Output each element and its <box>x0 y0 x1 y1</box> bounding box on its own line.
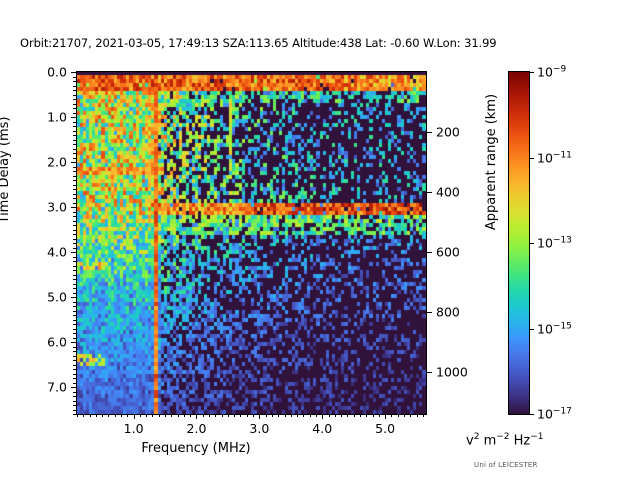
colorbar-tick-label: 10−11 <box>537 150 572 165</box>
colorbar-tick-label: 10−9 <box>537 64 566 79</box>
y-tick <box>73 167 76 168</box>
x-tick <box>159 414 160 417</box>
x-tick <box>240 414 241 417</box>
y-tick <box>73 275 76 276</box>
x-tick <box>134 414 135 419</box>
y-tick <box>73 248 76 249</box>
y-tick-label: 6.0 <box>47 335 67 350</box>
colorbar-tick-label: 10−15 <box>537 321 572 336</box>
y-tick <box>73 86 76 87</box>
x-tick <box>127 414 128 417</box>
y-tick <box>73 126 76 127</box>
y-tick <box>73 356 76 357</box>
x-tick <box>222 414 223 417</box>
x-tick <box>341 414 342 417</box>
x-tick <box>215 414 216 417</box>
x-tick <box>385 414 386 419</box>
x-tick <box>165 414 166 417</box>
y-tick <box>73 288 76 289</box>
y-tick <box>73 203 76 204</box>
y-tick <box>73 234 76 235</box>
y-tick <box>73 113 76 114</box>
x-tick <box>297 414 298 417</box>
y-tick <box>73 212 76 213</box>
y-tick <box>71 117 76 118</box>
y-tick-label: 5.0 <box>47 290 67 305</box>
y-tick <box>73 90 76 91</box>
y-tick <box>73 180 76 181</box>
watermark-text: Uni of LEICESTER <box>474 461 538 469</box>
y-tick <box>73 392 76 393</box>
ionogram-heatmap <box>77 72 426 414</box>
y-tick <box>73 194 76 195</box>
y-tick <box>73 410 76 411</box>
y-tick <box>71 387 76 388</box>
plot-title: Orbit:21707, 2021-03-05, 17:49:13 SZA:11… <box>20 36 497 50</box>
x-tick <box>115 414 116 417</box>
x-tick <box>184 414 185 417</box>
x-tick <box>108 414 109 417</box>
y-tick <box>71 207 76 208</box>
y-tick-label: 0.0 <box>47 65 67 80</box>
x-tick-label: 1.0 <box>124 421 144 436</box>
y-tick <box>73 239 76 240</box>
colorbar-tick <box>530 414 534 415</box>
y-tick <box>73 230 76 231</box>
x-tick-label: 3.0 <box>249 421 269 436</box>
y-tick <box>71 72 76 73</box>
y-tick <box>73 279 76 280</box>
y-tick <box>73 414 76 415</box>
y-tick <box>73 144 76 145</box>
y-tick <box>73 216 76 217</box>
x-tick <box>335 414 336 417</box>
y-tick <box>73 81 76 82</box>
y-tick <box>73 378 76 379</box>
x-tick <box>203 414 204 417</box>
x-tick <box>291 414 292 417</box>
y-tick <box>73 189 76 190</box>
y-tick <box>73 351 76 352</box>
y-tick <box>73 284 76 285</box>
right-tick-label: 1000 <box>436 365 468 380</box>
y-tick <box>73 135 76 136</box>
x-tick <box>379 414 380 417</box>
y-tick <box>73 324 76 325</box>
right-tick <box>427 372 432 373</box>
y-tick <box>73 131 76 132</box>
y-tick <box>73 158 76 159</box>
x-tick <box>398 414 399 417</box>
y-tick <box>73 383 76 384</box>
x-tick <box>140 414 141 417</box>
x-tick <box>360 414 361 417</box>
x-tick <box>391 414 392 417</box>
y-tick <box>73 243 76 244</box>
right-tick <box>427 252 432 253</box>
x-tick <box>190 414 191 417</box>
y-tick <box>73 104 76 105</box>
colorbar-tick <box>530 72 534 73</box>
x-tick <box>259 414 260 419</box>
x-tick <box>253 414 254 417</box>
x-tick <box>102 414 103 417</box>
x-tick <box>77 414 78 417</box>
y-tick <box>73 365 76 366</box>
y-tick <box>73 149 76 150</box>
right-tick <box>427 132 432 133</box>
colorbar-tick <box>530 158 534 159</box>
y-tick-label: 7.0 <box>47 380 67 395</box>
x-tick <box>96 414 97 417</box>
y-tick <box>73 320 76 321</box>
y-tick <box>73 374 76 375</box>
x-tick <box>329 414 330 417</box>
x-tick <box>196 414 197 419</box>
y-tick-label: 4.0 <box>47 245 67 260</box>
y-tick <box>73 176 76 177</box>
y-tick <box>73 221 76 222</box>
colorbar <box>508 71 530 415</box>
x-tick <box>83 414 84 417</box>
y-tick <box>73 266 76 267</box>
right-tick <box>427 192 432 193</box>
x-axis-title: Frequency (MHz) <box>141 441 250 456</box>
x-tick-label: 4.0 <box>312 421 332 436</box>
x-tick <box>209 414 210 417</box>
x-tick <box>423 414 424 417</box>
x-tick <box>322 414 323 419</box>
y-tick <box>73 347 76 348</box>
y-tick <box>73 198 76 199</box>
x-tick <box>171 414 172 417</box>
x-tick-label: 5.0 <box>375 421 395 436</box>
x-tick <box>266 414 267 417</box>
x-tick <box>404 414 405 417</box>
x-tick <box>354 414 355 417</box>
colorbar-unit-label: v2 m−2 Hz−1 <box>466 432 544 448</box>
y-tick <box>73 302 76 303</box>
colorbar-tick <box>530 329 534 330</box>
x-tick <box>272 414 273 417</box>
y-tick <box>73 405 76 406</box>
y-tick <box>73 270 76 271</box>
right-tick-label: 400 <box>436 185 460 200</box>
y-tick-label: 3.0 <box>47 200 67 215</box>
y-tick <box>73 338 76 339</box>
colorbar-gradient <box>509 72 529 414</box>
y-tick <box>73 369 76 370</box>
y-tick <box>73 108 76 109</box>
y-tick <box>73 315 76 316</box>
y-tick <box>73 77 76 78</box>
x-tick <box>303 414 304 417</box>
x-tick <box>310 414 311 417</box>
right-tick <box>427 312 432 313</box>
y-tick <box>73 257 76 258</box>
x-tick <box>146 414 147 417</box>
colorbar-tick-label: 10−13 <box>537 235 572 250</box>
y-tick <box>73 261 76 262</box>
y-tick <box>73 311 76 312</box>
y-tick <box>73 333 76 334</box>
y-tick <box>73 293 76 294</box>
y-tick-label: 2.0 <box>47 155 67 170</box>
right-tick-label: 600 <box>436 245 460 260</box>
right-tick-label: 800 <box>436 305 460 320</box>
x-tick-label: 2.0 <box>187 421 207 436</box>
x-tick <box>234 414 235 417</box>
y-tick <box>73 225 76 226</box>
y-tick <box>71 342 76 343</box>
y-tick <box>73 185 76 186</box>
y-tick <box>73 99 76 100</box>
colorbar-tick <box>530 243 534 244</box>
y-tick <box>73 140 76 141</box>
right-axis-title: Apparent range (km) <box>484 94 499 230</box>
x-tick <box>410 414 411 417</box>
x-tick <box>178 414 179 417</box>
y-axis-title: Time Delay (ms) <box>0 117 12 224</box>
x-tick <box>347 414 348 417</box>
x-tick <box>285 414 286 417</box>
right-tick-label: 200 <box>436 125 460 140</box>
x-tick <box>373 414 374 417</box>
y-tick <box>73 306 76 307</box>
y-tick <box>71 162 76 163</box>
y-tick-label: 1.0 <box>47 110 67 125</box>
x-tick <box>366 414 367 417</box>
y-tick <box>73 329 76 330</box>
x-tick <box>121 414 122 417</box>
y-tick <box>71 297 76 298</box>
x-tick <box>152 414 153 417</box>
y-tick <box>73 360 76 361</box>
x-tick <box>316 414 317 417</box>
x-tick <box>278 414 279 417</box>
colorbar-tick-label: 10−17 <box>537 406 572 421</box>
x-tick <box>90 414 91 417</box>
ionogram-plot-area <box>76 71 427 415</box>
x-tick <box>228 414 229 417</box>
y-tick <box>73 401 76 402</box>
x-tick <box>247 414 248 417</box>
y-tick <box>73 95 76 96</box>
y-tick <box>71 252 76 253</box>
x-tick <box>417 414 418 417</box>
y-tick <box>73 153 76 154</box>
y-tick <box>73 396 76 397</box>
y-tick <box>73 122 76 123</box>
y-tick <box>73 171 76 172</box>
